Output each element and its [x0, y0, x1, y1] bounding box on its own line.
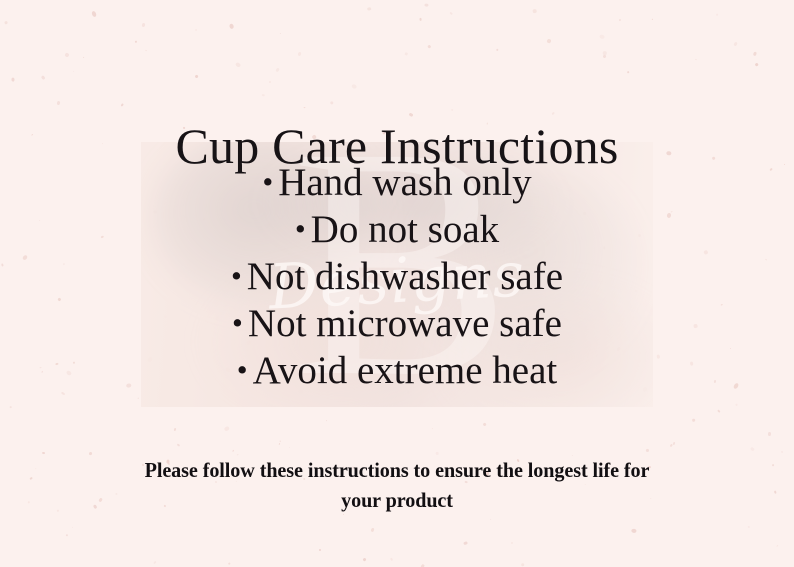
list-item-label: Not microwave safe: [248, 302, 562, 345]
care-instruction-card: B Designs Cup Care Instructions •Hand wa…: [0, 0, 794, 567]
care-instruction-list: •Hand wash only•Do not soak•Not dishwash…: [0, 159, 794, 394]
bullet-dot-icon: •: [237, 352, 253, 387]
footer-note: Please follow these instructions to ensu…: [0, 455, 794, 515]
list-item: •Avoid extreme heat: [0, 347, 794, 394]
list-item: •Not dishwasher safe: [0, 253, 794, 300]
bullet-dot-icon: •: [231, 258, 247, 293]
list-item-label: Avoid extreme heat: [253, 349, 558, 392]
list-item: •Do not soak: [0, 206, 794, 253]
list-item: •Hand wash only: [0, 159, 794, 206]
list-item-label: Not dishwasher safe: [247, 255, 563, 298]
list-item-label: Do not soak: [311, 208, 500, 251]
bullet-dot-icon: •: [262, 164, 278, 199]
footer-note-line-2: your product: [16, 485, 778, 515]
list-item: •Not microwave safe: [0, 300, 794, 347]
footer-note-line-1: Please follow these instructions to ensu…: [16, 455, 778, 485]
bullet-dot-icon: •: [232, 305, 248, 340]
list-item-label: Hand wash only: [278, 161, 531, 204]
card-content: Cup Care Instructions •Hand wash only•Do…: [0, 0, 794, 567]
bullet-dot-icon: •: [295, 211, 311, 246]
